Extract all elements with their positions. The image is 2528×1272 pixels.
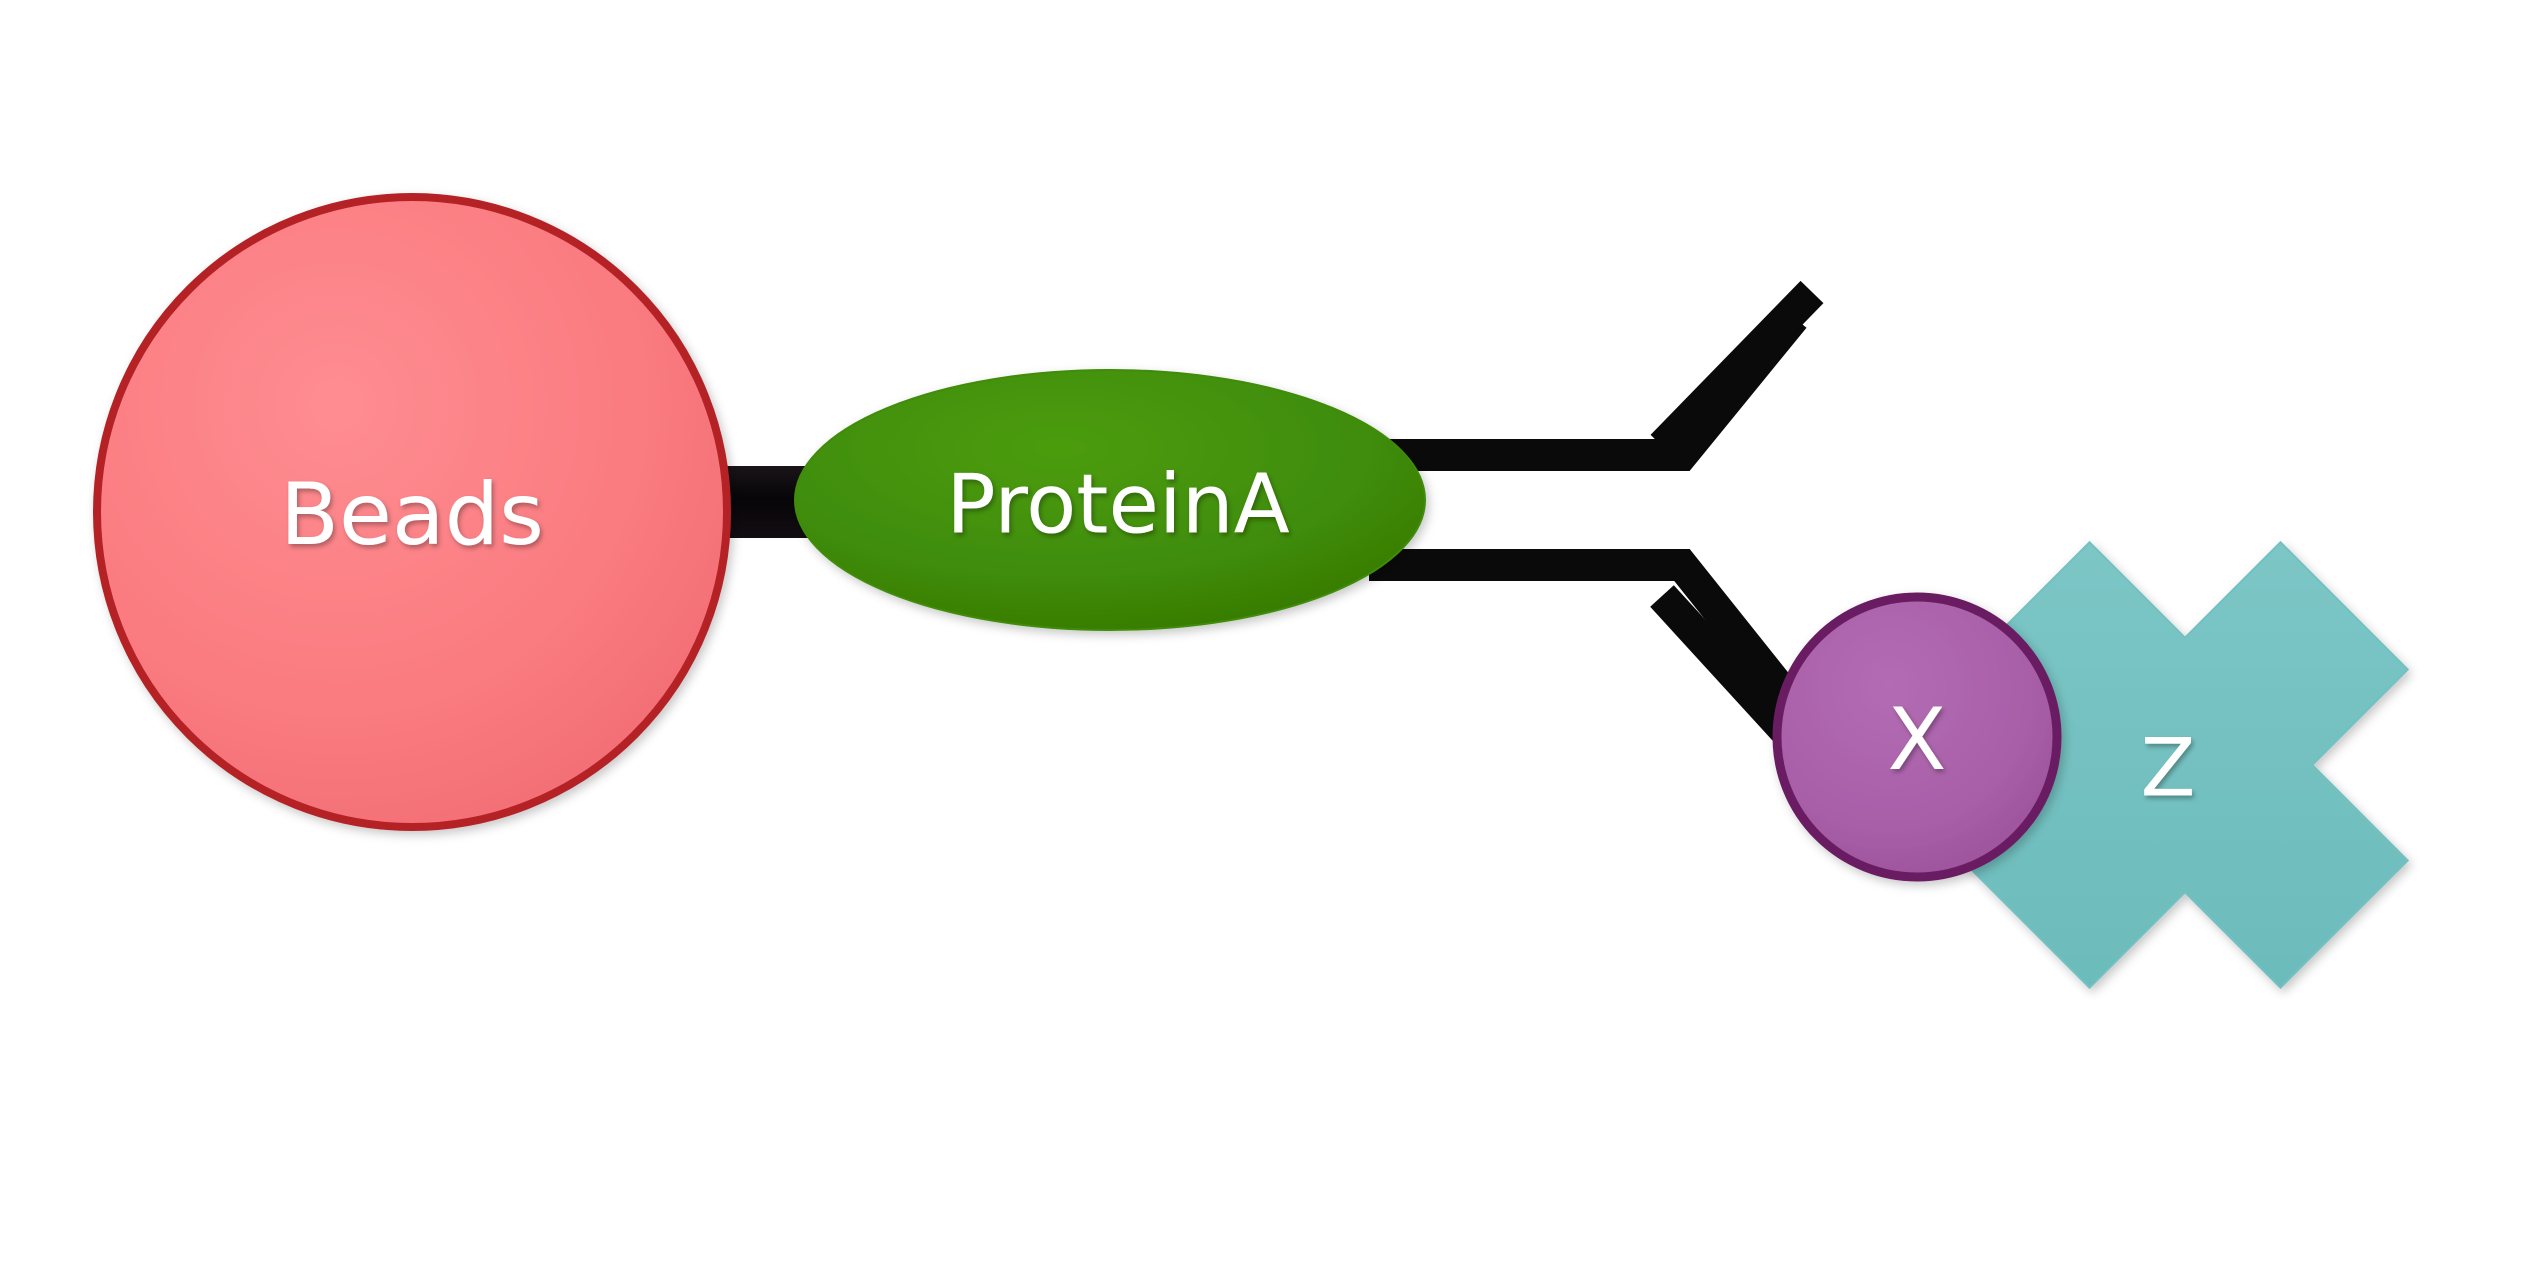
beads-node[interactable]: Beads — [97, 197, 727, 827]
antibody-icon — [1385, 292, 1812, 760]
diagram-canvas: Z X ProteinA Beads — [0, 0, 2528, 1272]
antigen-x-node[interactable]: X — [1777, 597, 2057, 877]
immunoprecipitation-diagram: Z X ProteinA Beads — [0, 0, 2528, 1272]
protein-a-node[interactable]: ProteinA — [795, 370, 1425, 630]
